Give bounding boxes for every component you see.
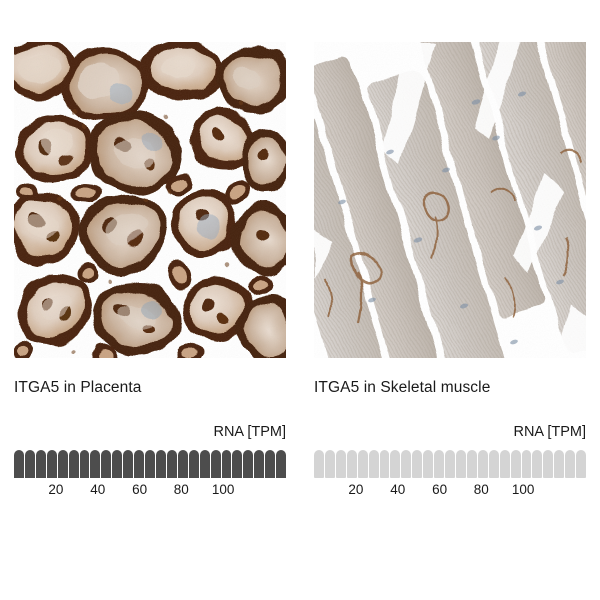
axis-ticks-skeletal-muscle: 20 40 60 80 100 — [314, 482, 586, 502]
bar — [336, 450, 346, 478]
bar — [532, 450, 542, 478]
bar — [265, 450, 275, 478]
caption-skeletal-muscle: ITGA5 in Skeletal muscle — [314, 379, 490, 397]
bar — [478, 450, 488, 478]
bar — [47, 450, 57, 478]
bar — [189, 450, 199, 478]
bar — [467, 450, 477, 478]
rna-tpm-label-placenta: RNA [TPM] — [213, 424, 286, 440]
bar — [380, 450, 390, 478]
bar — [434, 450, 444, 478]
bar — [25, 450, 35, 478]
bar — [369, 450, 379, 478]
bar — [112, 450, 122, 478]
axis-tick-label: 20 — [48, 482, 63, 497]
bar — [276, 450, 286, 478]
bar — [543, 450, 553, 478]
bar — [200, 450, 210, 478]
bar — [500, 450, 510, 478]
rna-tpm-label-skeletal-muscle: RNA [TPM] — [513, 424, 586, 440]
bar — [576, 450, 586, 478]
bar — [232, 450, 242, 478]
bar — [554, 450, 564, 478]
bar — [347, 450, 357, 478]
axis-tick-label: 60 — [432, 482, 447, 497]
bar — [123, 450, 133, 478]
caption-placenta: ITGA5 in Placenta — [14, 379, 142, 397]
bar — [412, 450, 422, 478]
bar — [222, 450, 232, 478]
bar — [167, 450, 177, 478]
panel-skeletal-muscle: ITGA5 in Skeletal muscle RNA [TPM] 20 40… — [300, 0, 600, 600]
bar — [254, 450, 264, 478]
axis-tick-label: 40 — [90, 482, 105, 497]
bar — [36, 450, 46, 478]
bar — [511, 450, 521, 478]
bar — [178, 450, 188, 478]
bar — [145, 450, 155, 478]
bar — [456, 450, 466, 478]
bar — [423, 450, 433, 478]
bar — [401, 450, 411, 478]
bar — [134, 450, 144, 478]
panel-placenta: ITGA5 in Placenta RNA [TPM] 20 40 60 80 … — [0, 0, 300, 600]
axis-ticks-placenta: 20 40 60 80 100 — [14, 482, 286, 502]
axis-tick-label: 40 — [390, 482, 405, 497]
bar — [445, 450, 455, 478]
bar — [390, 450, 400, 478]
bar — [358, 450, 368, 478]
bar — [101, 450, 111, 478]
bar-strip-skeletal-muscle — [314, 450, 586, 478]
axis-tick-label: 80 — [474, 482, 489, 497]
bar — [314, 450, 324, 478]
axis-tick-label: 20 — [348, 482, 363, 497]
bar — [156, 450, 166, 478]
micrograph-skeletal-muscle[interactable] — [314, 42, 586, 358]
axis-tick-label: 100 — [512, 482, 535, 497]
micrograph-placenta[interactable] — [14, 42, 286, 358]
bar — [14, 450, 24, 478]
bar — [489, 450, 499, 478]
bar — [522, 450, 532, 478]
axis-tick-label: 60 — [132, 482, 147, 497]
placenta-histology-image — [14, 42, 286, 358]
bar — [243, 450, 253, 478]
skeletal-muscle-histology-image — [314, 42, 586, 358]
bar-strip-placenta — [14, 450, 286, 478]
bar — [69, 450, 79, 478]
bar — [565, 450, 575, 478]
axis-tick-label: 80 — [174, 482, 189, 497]
bar — [90, 450, 100, 478]
bar — [58, 450, 68, 478]
bar — [80, 450, 90, 478]
bar — [325, 450, 335, 478]
axis-tick-label: 100 — [212, 482, 235, 497]
bar — [211, 450, 221, 478]
